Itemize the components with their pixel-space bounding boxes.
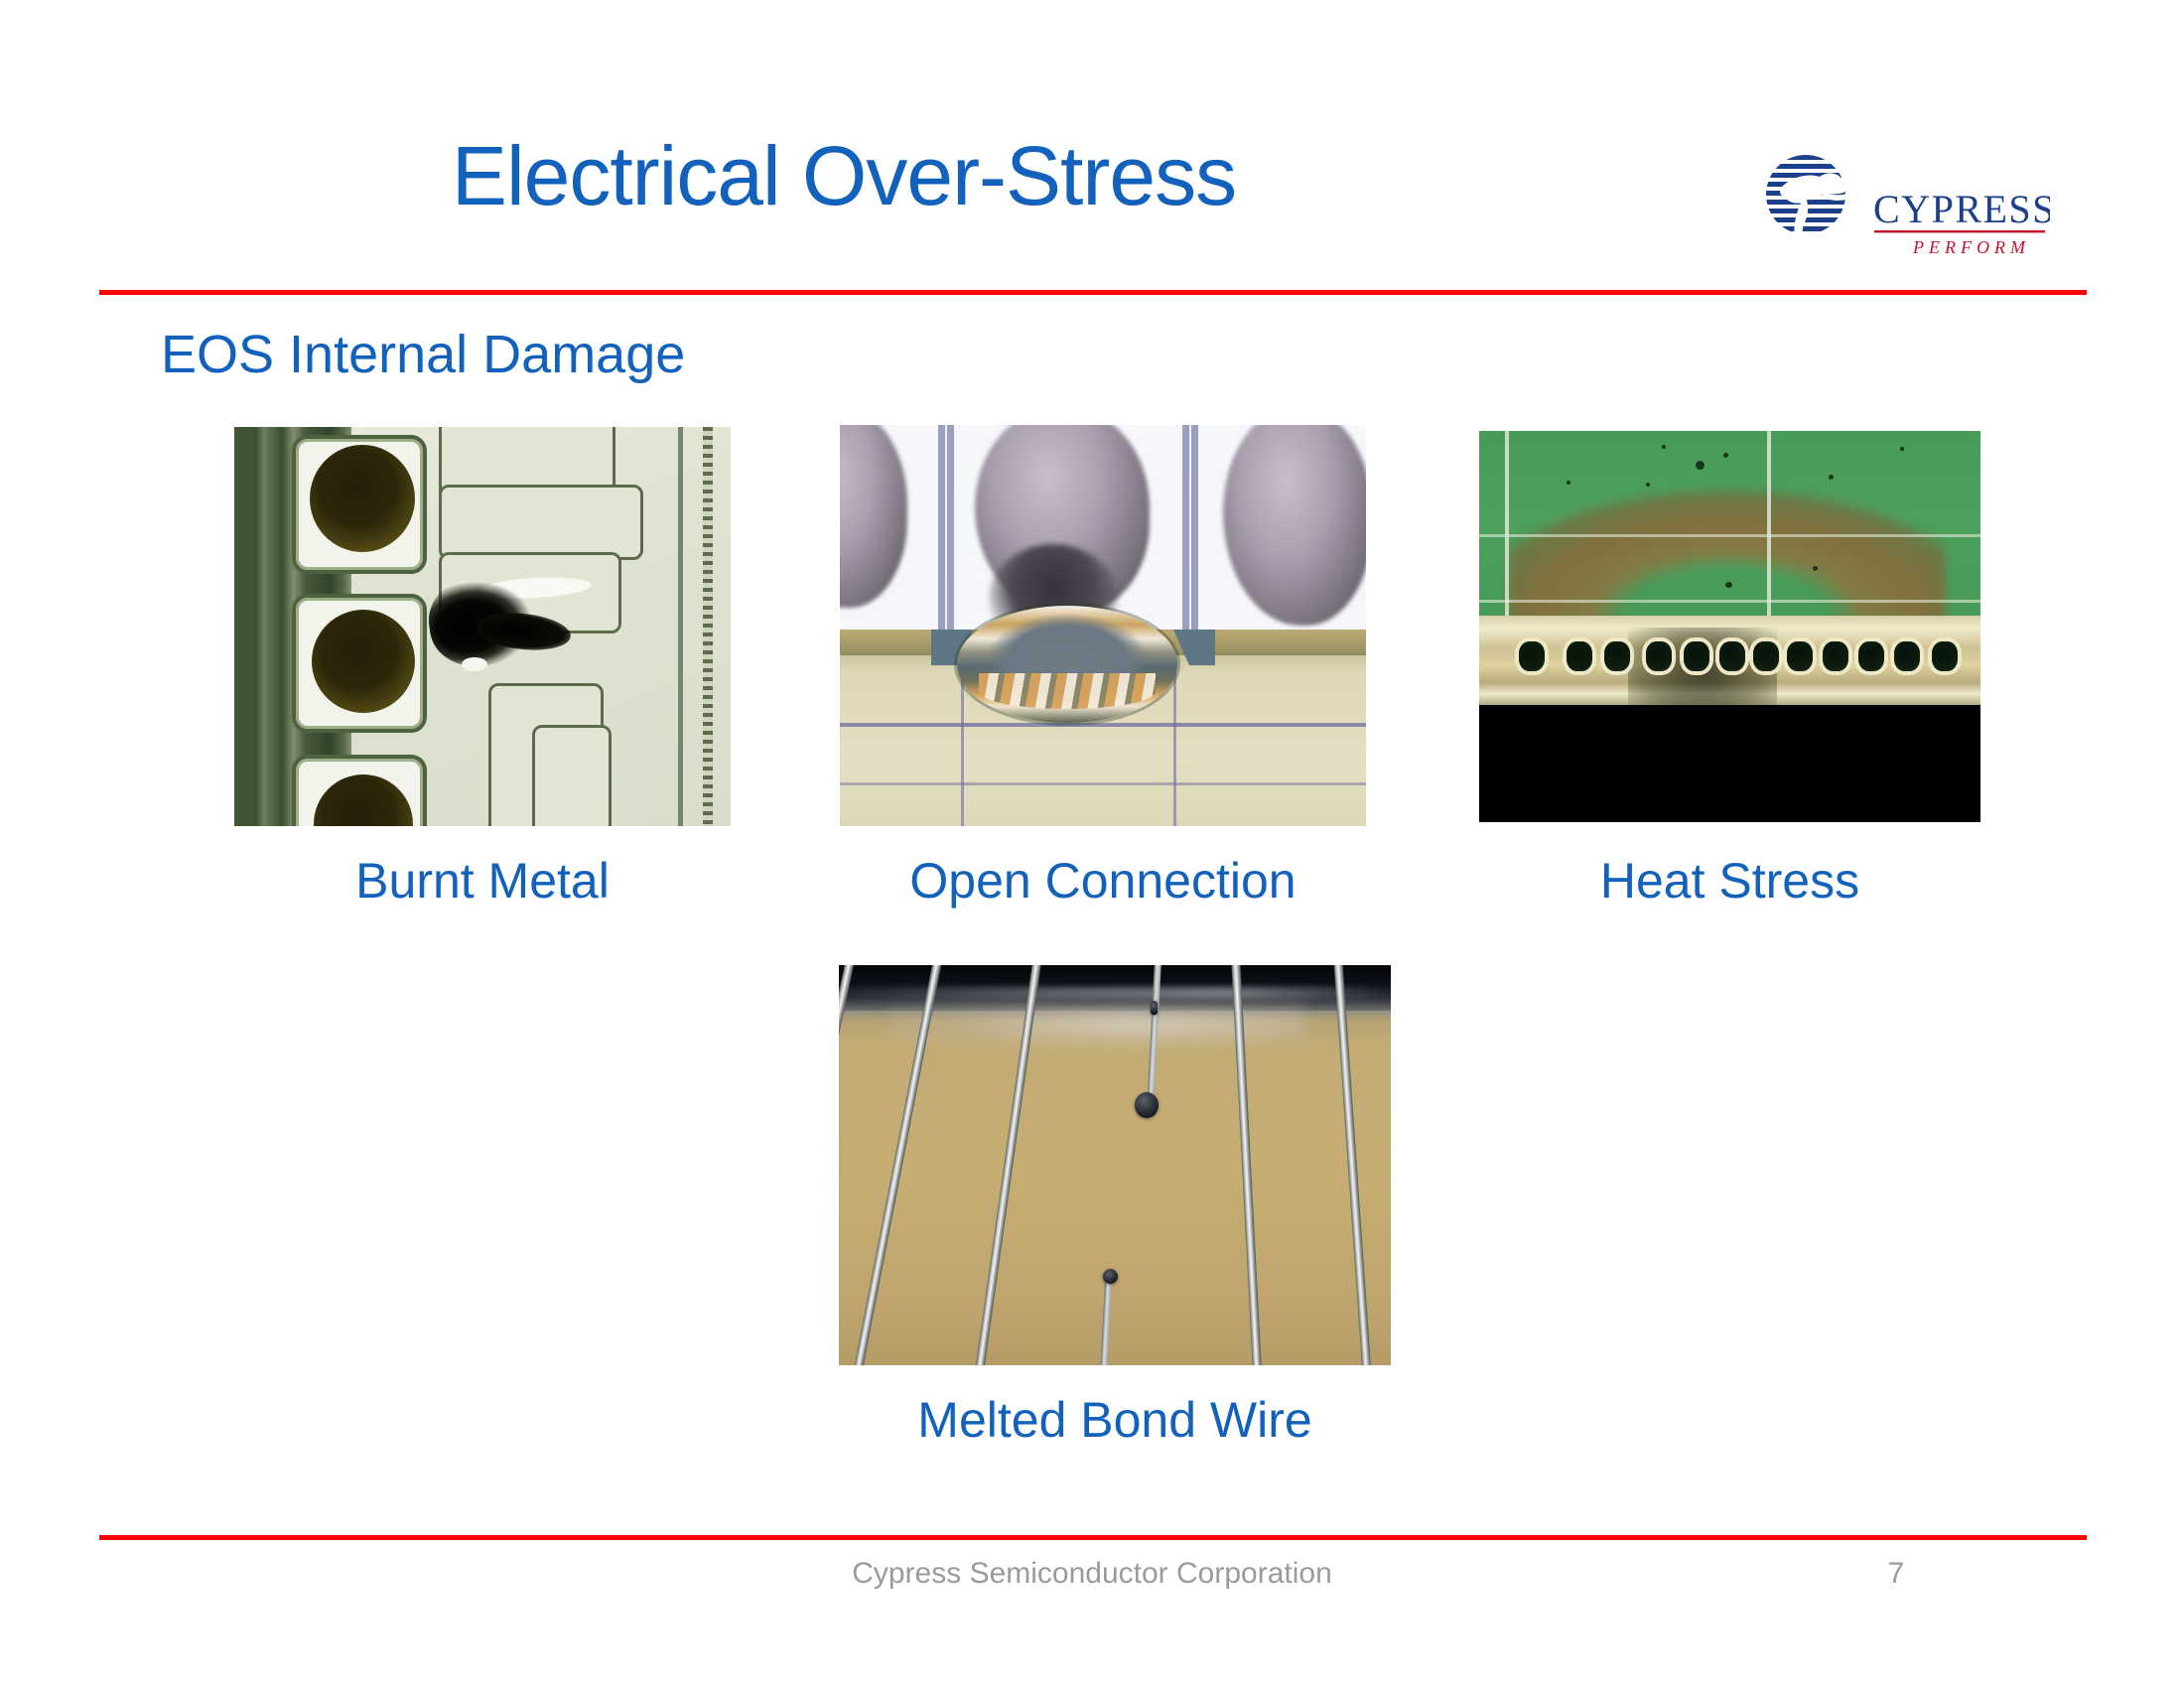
- melted-bond-wire-image: [839, 965, 1391, 1365]
- figure-burnt-metal: [234, 427, 731, 826]
- footer-divider: [99, 1535, 2087, 1540]
- caption-open-connection: Open Connection: [790, 856, 1416, 906]
- caption-burnt-metal: Burnt Metal: [185, 856, 780, 906]
- cypress-logo: CYPRESS PERFORM: [1762, 151, 2050, 260]
- logo-tagline: PERFORM: [1912, 237, 2030, 257]
- footer-company: Cypress Semiconductor Corporation: [0, 1557, 2184, 1591]
- header-divider: [99, 290, 2087, 295]
- page-title: Electrical Over-Stress: [0, 134, 1688, 217]
- figure-open-connection: [840, 425, 1366, 826]
- heat-stress-image: [1479, 431, 1980, 822]
- figure-heat-stress: [1479, 431, 1980, 822]
- logo-wordmark: CYPRESS: [1873, 187, 2050, 231]
- figure-melted-bond-wire: [839, 965, 1391, 1365]
- slide-canvas: Electrical Over-Stress: [0, 0, 2184, 1688]
- caption-heat-stress: Heat Stress: [1430, 856, 2030, 906]
- burnt-metal-image: [234, 427, 731, 826]
- caption-melted-bond-wire: Melted Bond Wire: [789, 1395, 1440, 1445]
- page-number: 7: [1866, 1557, 1926, 1591]
- open-connection-image: [840, 425, 1366, 826]
- section-heading: EOS Internal Damage: [161, 328, 685, 381]
